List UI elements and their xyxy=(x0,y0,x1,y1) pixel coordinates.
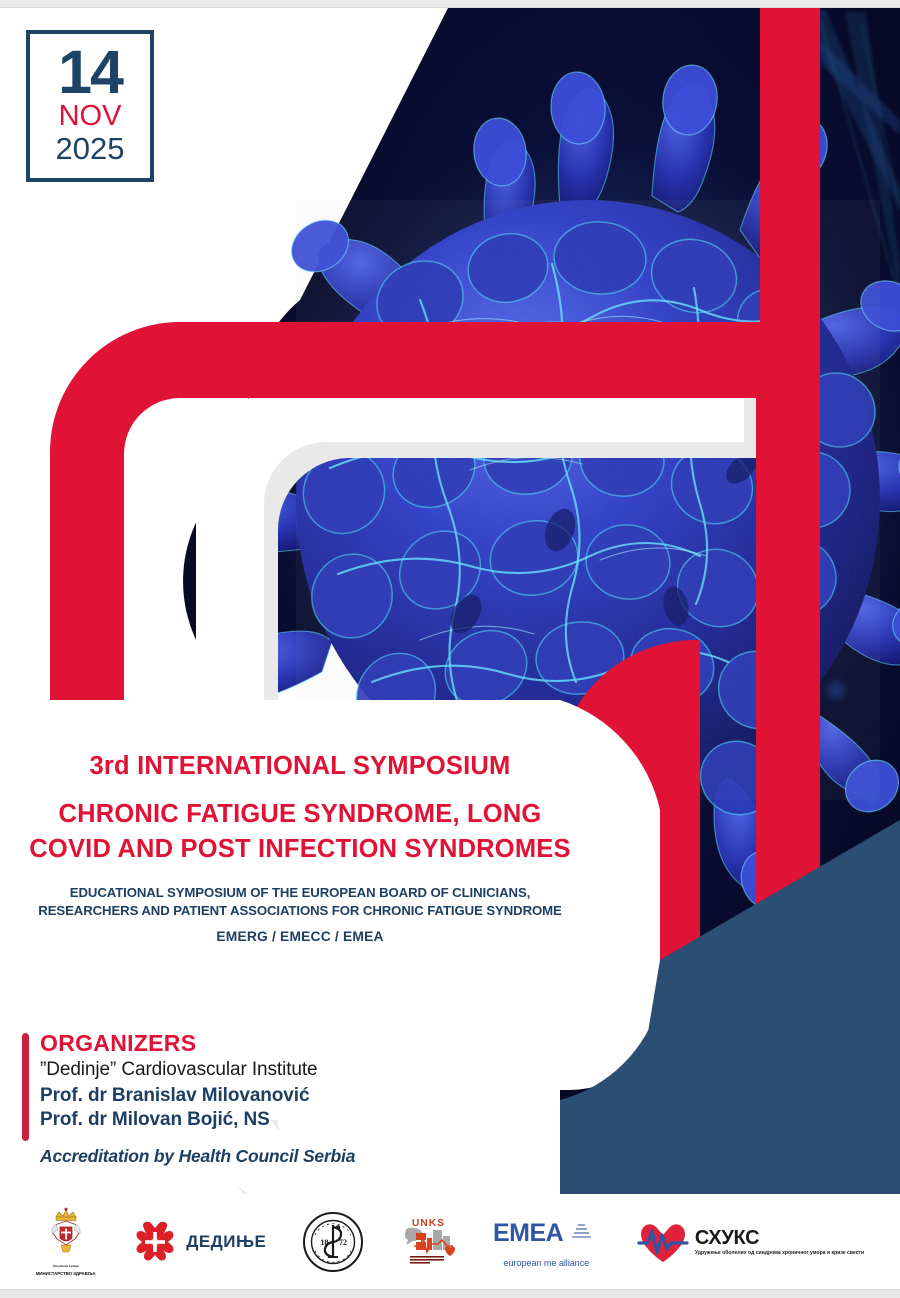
logo-unks: UNKS xyxy=(400,1216,456,1268)
shuks-tagline: Удружење оболелих од синдрома хроничног … xyxy=(695,1250,864,1257)
organizer-person-2: Prof. dr Milovan Bojić, NS xyxy=(40,1108,492,1132)
date-badge: 14 NOV 2025 xyxy=(26,30,154,182)
shuks-wordmark: СХУКС xyxy=(695,1228,864,1248)
unks-blocks-heart-icon: UNKS xyxy=(400,1216,456,1268)
ministry-caption: МИНИСТАРСТВО ЗДРАВЉА xyxy=(36,1271,96,1277)
symposium-edition-title: 3rd INTERNATIONAL SYMPOSIUM xyxy=(0,752,600,781)
organizers-heading: ORGANIZERS xyxy=(40,1030,492,1057)
emea-tagline: european me alliance xyxy=(503,1258,589,1268)
medical-society-seal-icon: 18 72 xyxy=(302,1211,364,1273)
organizers-institute: ”Dedinje” Cardiovascular Institute xyxy=(40,1059,492,1081)
viewer-top-strip xyxy=(0,0,900,8)
svg-text:UNKS: UNKS xyxy=(412,1218,445,1229)
svg-text:72: 72 xyxy=(339,1238,347,1247)
symposium-orgs-line: EMERG / EMECC / EMEA xyxy=(0,929,600,944)
symposium-poster: 14 NOV 2025 3rd INTERNATIONAL SYMPOSIUM … xyxy=(0,0,900,1298)
organizers-accent-bar xyxy=(22,1033,29,1141)
serbian-coat-of-arms-icon xyxy=(43,1207,89,1263)
heart-ecg-icon xyxy=(637,1219,689,1265)
organizers-block: ORGANIZERS ”Dedinje” Cardiovascular Inst… xyxy=(22,1030,492,1167)
svg-text:18: 18 xyxy=(321,1238,329,1247)
logo-shuks: СХУКС Удружење оболелих од синдрома хрон… xyxy=(637,1219,864,1265)
headline-block: 3rd INTERNATIONAL SYMPOSIUM CHRONIC FATI… xyxy=(0,752,600,944)
logo-serbian-medical-society: 18 72 xyxy=(302,1211,364,1273)
logo-dedinje-institute: ДЕДИЊЕ xyxy=(131,1218,266,1266)
four-hearts-clover-icon xyxy=(131,1218,179,1266)
accreditation-note: Accreditation by Health Council Serbia xyxy=(40,1146,492,1167)
ministry-caption-top: Република Србија xyxy=(53,1265,79,1269)
svg-text:EMEA: EMEA xyxy=(493,1219,564,1247)
symposium-main-title: CHRONIC FATIGUE SYNDROME, LONG COVID AND… xyxy=(20,797,580,866)
emea-wordmark-icon: EMEA xyxy=(491,1217,601,1257)
sponsor-logo-bar: Република Србија МИНИСТАРСТВО ЗДРАВЉА xyxy=(0,1194,900,1290)
organizer-person-1: Prof. dr Branislav Milovanović xyxy=(40,1084,492,1108)
symposium-subtitle: EDUCATIONAL SYMPOSIUM OF THE EUROPEAN BO… xyxy=(20,884,580,919)
logo-serbia-ministry-of-health: Република Србија МИНИСТАРСТВО ЗДРАВЉА xyxy=(36,1207,96,1276)
logo-emea: EMEA european me alliance xyxy=(491,1217,601,1268)
date-year: 2025 xyxy=(56,133,125,166)
dedinje-wordmark: ДЕДИЊЕ xyxy=(186,1232,266,1252)
date-month: NOV xyxy=(59,101,122,131)
date-day: 14 xyxy=(58,45,122,100)
viewer-bottom-strip xyxy=(0,1289,900,1298)
